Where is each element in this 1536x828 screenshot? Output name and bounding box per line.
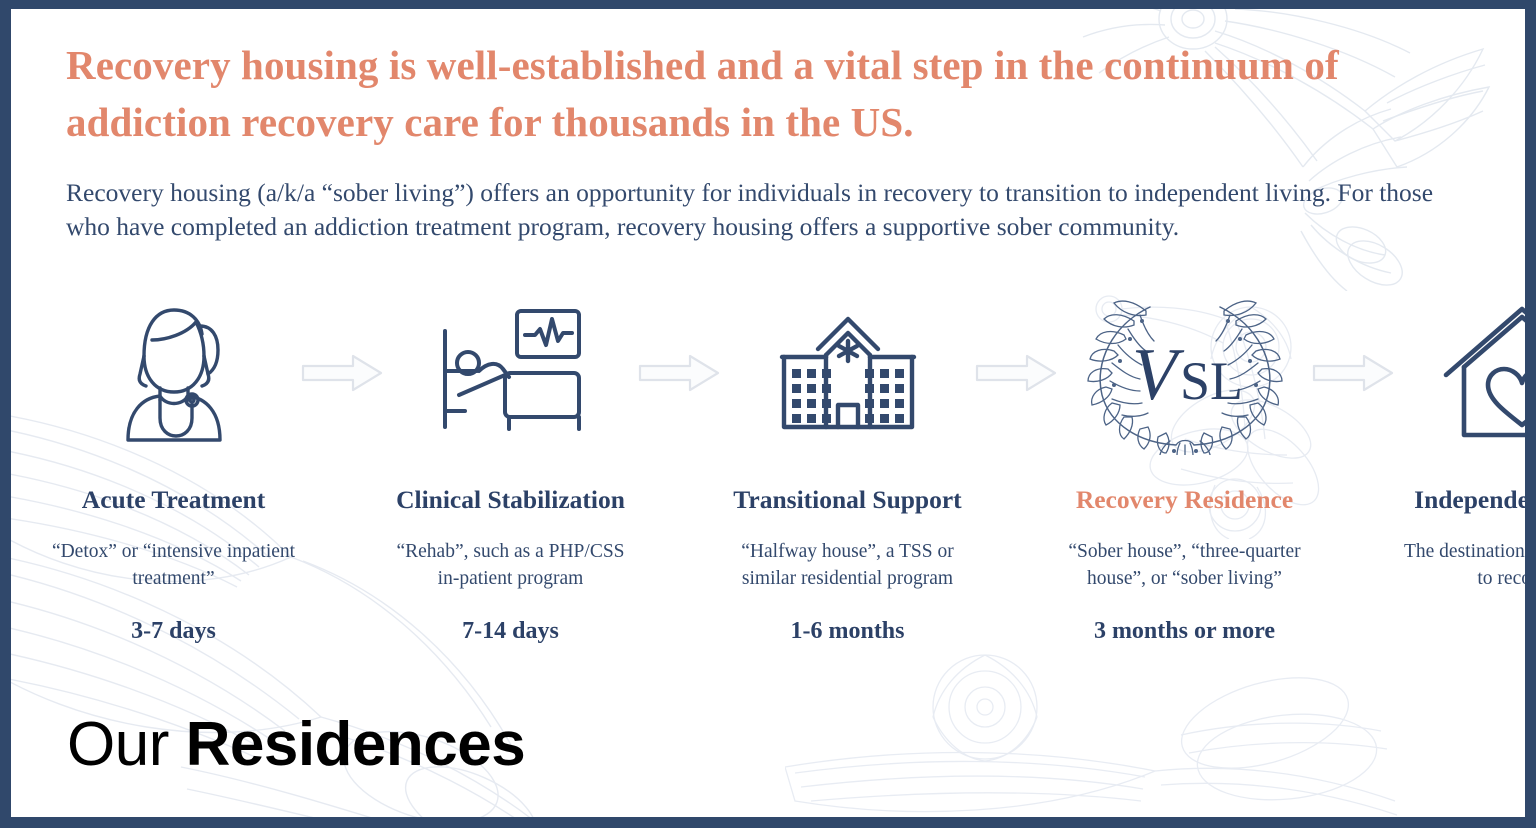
stage-transitional-support: Transitional Support “Halfway house”, a … [725,295,970,646]
stage-description: “Halfway house”, a TSS or similar reside… [723,539,973,592]
stage-title: Independent Living [1414,485,1525,515]
flow-arrow-slot [633,295,725,450]
section-title: Our Residences [67,709,525,780]
flow-arrow-slot [970,295,1062,450]
right-arrow-icon [301,354,383,392]
house-heart-icon [1442,305,1526,441]
stage-icon-slot [778,295,918,450]
hospital-bed-monitor-icon [435,307,587,439]
svg-text:SL: SL [1180,351,1243,411]
right-arrow-icon [638,354,720,392]
page-headline: Recovery housing is well-established and… [66,37,1356,150]
stage-icon-slot [1442,295,1526,450]
stage-duration: 3-7 days [131,618,216,646]
slide-canvas: Recovery housing is well-established and… [11,9,1525,817]
stage-duration: 7-14 days [462,618,559,646]
stage-clinical-stabilization: Clinical Stabilization “Rehab”, such as … [388,295,633,646]
stage-icon-slot: V SL [1084,295,1286,450]
stage-description: The destination of the journey to recove… [1397,539,1526,592]
stage-independent-living: Independent Living The destination of th… [1399,295,1525,646]
stage-description: “Rehab”, such as a PHP/CSS in-patient pr… [386,539,636,592]
doctor-stethoscope-icon [108,300,240,446]
flow-arrow-slot [296,295,388,450]
intro-paragraph: Recovery housing (a/k/a “sober living”) … [66,176,1451,245]
stage-title: Clinical Stabilization [396,485,625,515]
stage-recovery-residence: V SL Recovery Residence “Sober house”, “… [1062,295,1307,646]
right-arrow-icon [1312,354,1394,392]
stage-title: Transitional Support [733,485,961,515]
stage-duration: 3 months or more [1094,618,1275,646]
vsl-wreath-monogram-icon: V SL [1084,291,1286,455]
stage-description: “Sober house”, “three-quarter house”, or… [1060,539,1310,592]
flow-arrow-slot [1307,295,1399,450]
stage-description: “Detox” or “intensive inpatient treatmen… [49,539,299,592]
section-title-heavy: Residences [186,710,526,779]
stage-title: Acute Treatment [82,485,265,515]
stage-acute-treatment: Acute Treatment “Detox” or “intensive in… [51,295,296,646]
section-title-light: Our [67,710,186,779]
right-arrow-icon [975,354,1057,392]
hospital-building-icon [778,313,918,433]
stage-icon-slot [435,295,587,450]
recovery-continuum-flow: Acute Treatment “Detox” or “intensive in… [51,295,1501,646]
slide-frame: Recovery housing is well-established and… [0,0,1536,828]
stage-title: Recovery Residence [1076,485,1293,515]
svg-text:V: V [1132,334,1185,416]
stage-icon-slot [108,295,240,450]
stage-duration: 1-6 months [790,618,904,646]
